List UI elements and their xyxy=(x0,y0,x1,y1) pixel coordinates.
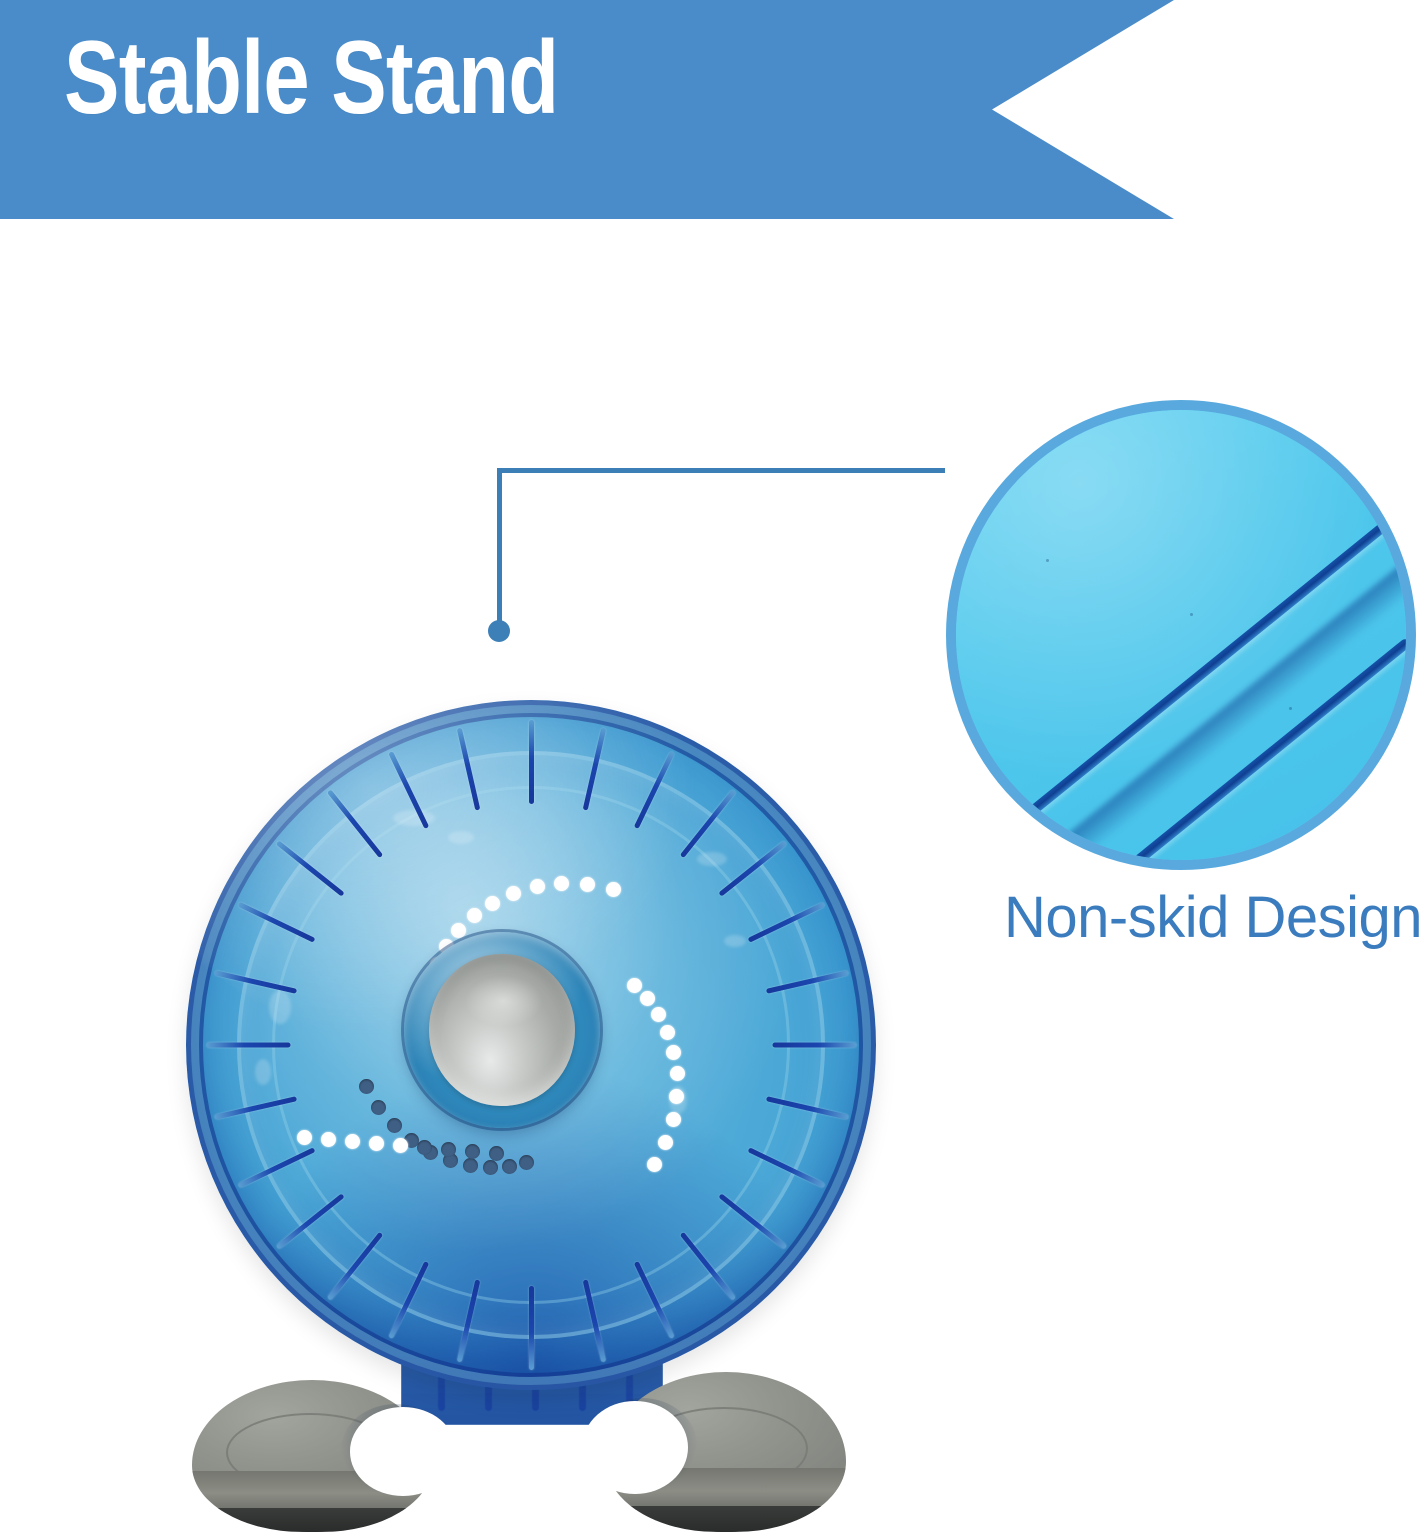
wheel-hub xyxy=(404,932,600,1128)
leader-vertical-segment xyxy=(497,468,502,626)
wheel-vent-hole xyxy=(359,1079,374,1094)
foot-rubber-pad xyxy=(199,1508,425,1532)
wheel-vent-hole xyxy=(483,1160,498,1175)
feature-banner: Stable Stand xyxy=(0,0,1174,219)
surface-speck xyxy=(1190,613,1193,616)
wheel-vent-hole xyxy=(297,1130,312,1145)
wheel-vent-hole xyxy=(530,879,545,894)
wheel-vent-hole xyxy=(441,1142,456,1157)
wheel-vent-hole xyxy=(502,1159,517,1174)
wheel-hub-cap xyxy=(429,954,574,1107)
wheel-tread-groove xyxy=(772,1043,856,1048)
non-skid-detail-circle xyxy=(946,400,1416,870)
base-foot-left xyxy=(192,1380,432,1532)
surface-speck xyxy=(1289,707,1292,710)
foot-notch xyxy=(350,1407,456,1495)
wheel-vent-hole xyxy=(387,1118,402,1133)
wheel-tread-groove xyxy=(206,1043,290,1048)
wheel-vent-hole xyxy=(658,1135,673,1150)
surface-speck xyxy=(1046,559,1049,562)
leader-endpoint-dot xyxy=(488,620,510,642)
wheel-tread-groove xyxy=(529,1286,534,1370)
wheel-vent-hole xyxy=(465,1144,480,1159)
wheel-vent-hole xyxy=(485,896,500,911)
wheel-vent-hole xyxy=(666,1112,681,1127)
leader-horizontal-segment xyxy=(497,468,945,473)
wheel-vent-hole xyxy=(489,1146,504,1161)
wheel-vent-hole xyxy=(345,1134,360,1149)
wheel-vent-hole xyxy=(651,1007,666,1022)
wheel-vent-hole xyxy=(321,1132,336,1147)
wheel-tread-groove xyxy=(529,720,534,804)
surface-blob xyxy=(269,990,291,1024)
foot-rubber-pad xyxy=(613,1506,839,1532)
wheel-vent-hole xyxy=(371,1100,386,1115)
surface-blob xyxy=(724,935,746,947)
surface-blob xyxy=(697,852,727,866)
non-skid-design-label: Non-skid Design xyxy=(1004,888,1419,949)
base-foot-right xyxy=(606,1372,846,1532)
wheel-vent-hole xyxy=(627,978,642,993)
wheel-vent-hole xyxy=(393,1138,408,1153)
foot-notch xyxy=(582,1401,688,1494)
banner-title: Stable Stand xyxy=(64,26,558,130)
wheel-vent-hole xyxy=(369,1136,384,1151)
hub-cap-sheen xyxy=(464,975,542,1027)
surface-blob xyxy=(255,1059,271,1085)
product-photo-exercise-wheel xyxy=(186,700,880,1500)
wheel-vent-hole xyxy=(670,1066,685,1081)
callout-leader-line xyxy=(470,440,970,660)
wheel-vent-hole xyxy=(417,1140,432,1155)
wheel-vent-hole xyxy=(660,1025,675,1040)
wheel-vent-hole xyxy=(467,908,482,923)
wheel-vent-hole xyxy=(580,877,595,892)
